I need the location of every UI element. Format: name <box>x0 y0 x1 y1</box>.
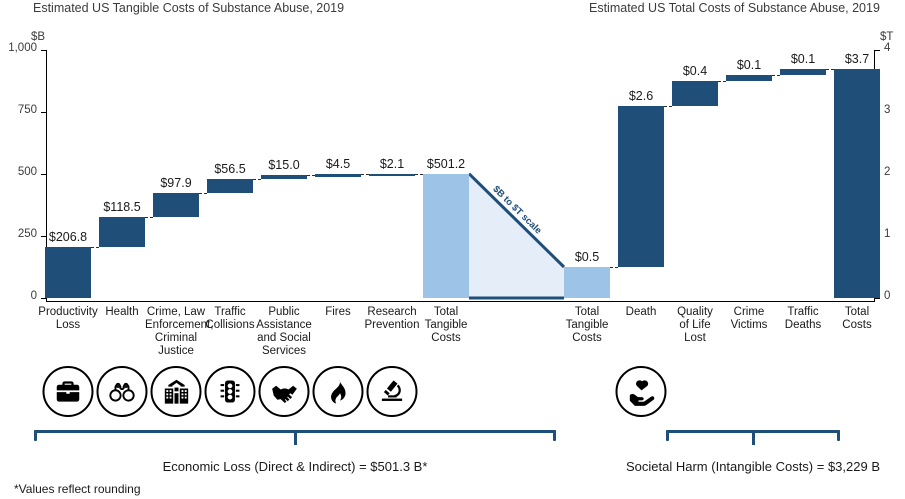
traffic-light-icon <box>205 366 256 417</box>
category-label-4: TrafficCollisions <box>199 306 261 332</box>
category-label-line: Collisions <box>199 319 261 332</box>
waterfall-chart-figure: Estimated US Tangible Costs of Substance… <box>0 0 905 499</box>
value-label-12: $0.1 <box>737 58 761 72</box>
category-label-1: ProductivityLoss <box>37 306 99 332</box>
plot-area: 1,0007505002500 43210 $206.8$118.5$97.9$… <box>46 46 875 302</box>
category-label-line: Victims <box>718 319 780 332</box>
value-label-9: $0.5 <box>575 250 599 264</box>
connector-line <box>307 175 315 176</box>
footnote: *Values reflect rounding <box>14 482 141 496</box>
left-tick-label: 0 <box>31 290 46 302</box>
category-label-line: Crime <box>718 306 780 319</box>
left-tick-label: 250 <box>18 228 46 240</box>
connector-line <box>826 69 834 70</box>
value-label-13: $0.1 <box>791 52 815 66</box>
chart-title-left: Estimated US Tangible Costs of Substance… <box>33 1 344 15</box>
handcuffs-icon <box>97 366 148 417</box>
group-bracket-1 <box>34 430 556 456</box>
category-label-line: Criminal <box>145 332 207 345</box>
right-tick-label: 3 <box>884 104 890 116</box>
category-label-line: Total <box>556 306 618 319</box>
bar-12 <box>726 75 772 81</box>
category-label-11: Qualityof LifeLost <box>664 306 726 345</box>
category-label-line: Justice <box>145 345 207 358</box>
left-tick-label: 1,000 <box>8 42 46 54</box>
bar-9 <box>564 267 610 298</box>
connector-line <box>91 247 99 248</box>
category-label-line: Prevention <box>361 319 423 332</box>
category-label-line: Services <box>253 345 315 358</box>
category-label-7: ResearchPrevention <box>361 306 423 332</box>
category-label-line: Lost <box>664 332 726 345</box>
value-label-2: $118.5 <box>103 200 140 214</box>
bar-4 <box>207 179 253 193</box>
bracket-label-1: Economic Loss (Direct & Indirect) = $501… <box>163 459 428 474</box>
category-label-5: PublicAssistanceand SocialServices <box>253 306 315 358</box>
value-label-4: $56.5 <box>214 162 245 176</box>
bar-11 <box>672 81 718 106</box>
bracket-stem <box>752 432 755 445</box>
connector-line <box>718 81 726 82</box>
category-label-10: Death <box>610 306 672 319</box>
category-label-line: Assistance <box>253 319 315 332</box>
courthouse-icon <box>151 366 202 417</box>
left-tick-label: 750 <box>18 104 46 116</box>
bar-1 <box>45 247 91 298</box>
right-tick-label: 4 <box>884 42 890 54</box>
category-label-line: Fires <box>307 306 369 319</box>
category-label-line: Health <box>91 306 153 319</box>
category-label-6: Fires <box>307 306 369 319</box>
category-label-line: Costs <box>826 319 888 332</box>
bracket-leg-left <box>34 430 37 441</box>
left-tick-label: 500 <box>18 166 46 178</box>
value-label-11: $0.4 <box>683 64 707 78</box>
category-label-9: TotalTangibleCosts <box>556 306 618 345</box>
connector-line <box>145 217 153 218</box>
category-label-line: and Social <box>253 332 315 345</box>
connector-line <box>199 193 207 194</box>
right-tick-label: 1 <box>884 228 890 240</box>
hand-heart-icon <box>616 366 667 417</box>
category-label-8: TotalTangibleCosts <box>415 306 477 345</box>
value-label-7: $2.1 <box>380 157 404 171</box>
value-label-5: $15.0 <box>268 158 299 172</box>
category-label-line: Traffic <box>772 306 834 319</box>
bracket-leg-right <box>837 430 840 441</box>
category-label-line: Costs <box>415 332 477 345</box>
value-label-8: $501.2 <box>427 157 465 171</box>
category-label-12: CrimeVictims <box>718 306 780 332</box>
category-label-line: Loss <box>37 319 99 332</box>
bar-2 <box>99 217 145 246</box>
value-label-10: $2.6 <box>629 89 653 103</box>
category-label-line: Enforcement, <box>145 319 207 332</box>
connector-line <box>415 174 423 175</box>
category-label-2: Health <box>91 306 153 319</box>
flame-icon <box>313 366 364 417</box>
microscope-icon <box>367 366 418 417</box>
category-label-line: Deaths <box>772 319 834 332</box>
bar-13 <box>780 69 826 75</box>
value-label-14: $3.7 <box>845 52 869 66</box>
category-label-line: Research <box>361 306 423 319</box>
bracket-leg-right <box>553 430 556 441</box>
right-tick-label: 0 <box>884 290 890 302</box>
category-label-line: Public <box>253 306 315 319</box>
category-label-line: Total <box>415 306 477 319</box>
category-label-line: Productivity <box>37 306 99 319</box>
category-label-line: Crime, Law <box>145 306 207 319</box>
category-label-line: Costs <box>556 332 618 345</box>
category-label-line: Traffic <box>199 306 261 319</box>
briefcase-icon <box>43 366 94 417</box>
category-label-line: Total <box>826 306 888 319</box>
category-label-14: TotalCosts <box>826 306 888 332</box>
category-label-line: Quality <box>664 306 726 319</box>
category-label-line: Death <box>610 306 672 319</box>
bar-14 <box>834 69 880 298</box>
value-label-1: $206.8 <box>49 230 87 244</box>
bar-7 <box>369 174 415 177</box>
bar-10 <box>618 106 664 267</box>
bar-6 <box>315 174 361 177</box>
right-tick-mark <box>875 50 880 51</box>
category-label-line: Tangible <box>415 319 477 332</box>
category-label-3: Crime, LawEnforcement,CriminalJustice <box>145 306 207 358</box>
category-label-line: of Life <box>664 319 726 332</box>
category-label-line: Tangible <box>556 319 618 332</box>
value-label-6: $4.5 <box>326 157 350 171</box>
bracket-stem <box>294 432 297 445</box>
bar-3 <box>153 193 199 217</box>
right-tick-label: 2 <box>884 166 890 178</box>
group-bracket-2 <box>666 430 840 456</box>
category-label-13: TrafficDeaths <box>772 306 834 332</box>
bar-8 <box>423 174 469 298</box>
bracket-label-2: Societal Harm (Intangible Costs) = $3,22… <box>626 459 880 474</box>
connector-line <box>253 179 261 180</box>
connector-line <box>772 75 780 76</box>
right-tick-mark <box>875 298 880 299</box>
value-label-3: $97.9 <box>160 176 191 190</box>
handshake-icon <box>259 366 310 417</box>
connector-line <box>664 106 672 107</box>
bar-5 <box>261 175 307 179</box>
bracket-leg-left <box>666 430 669 441</box>
chart-title-right: Estimated US Total Costs of Substance Ab… <box>589 1 880 15</box>
connector-line <box>610 267 618 268</box>
connector-line <box>361 174 369 175</box>
